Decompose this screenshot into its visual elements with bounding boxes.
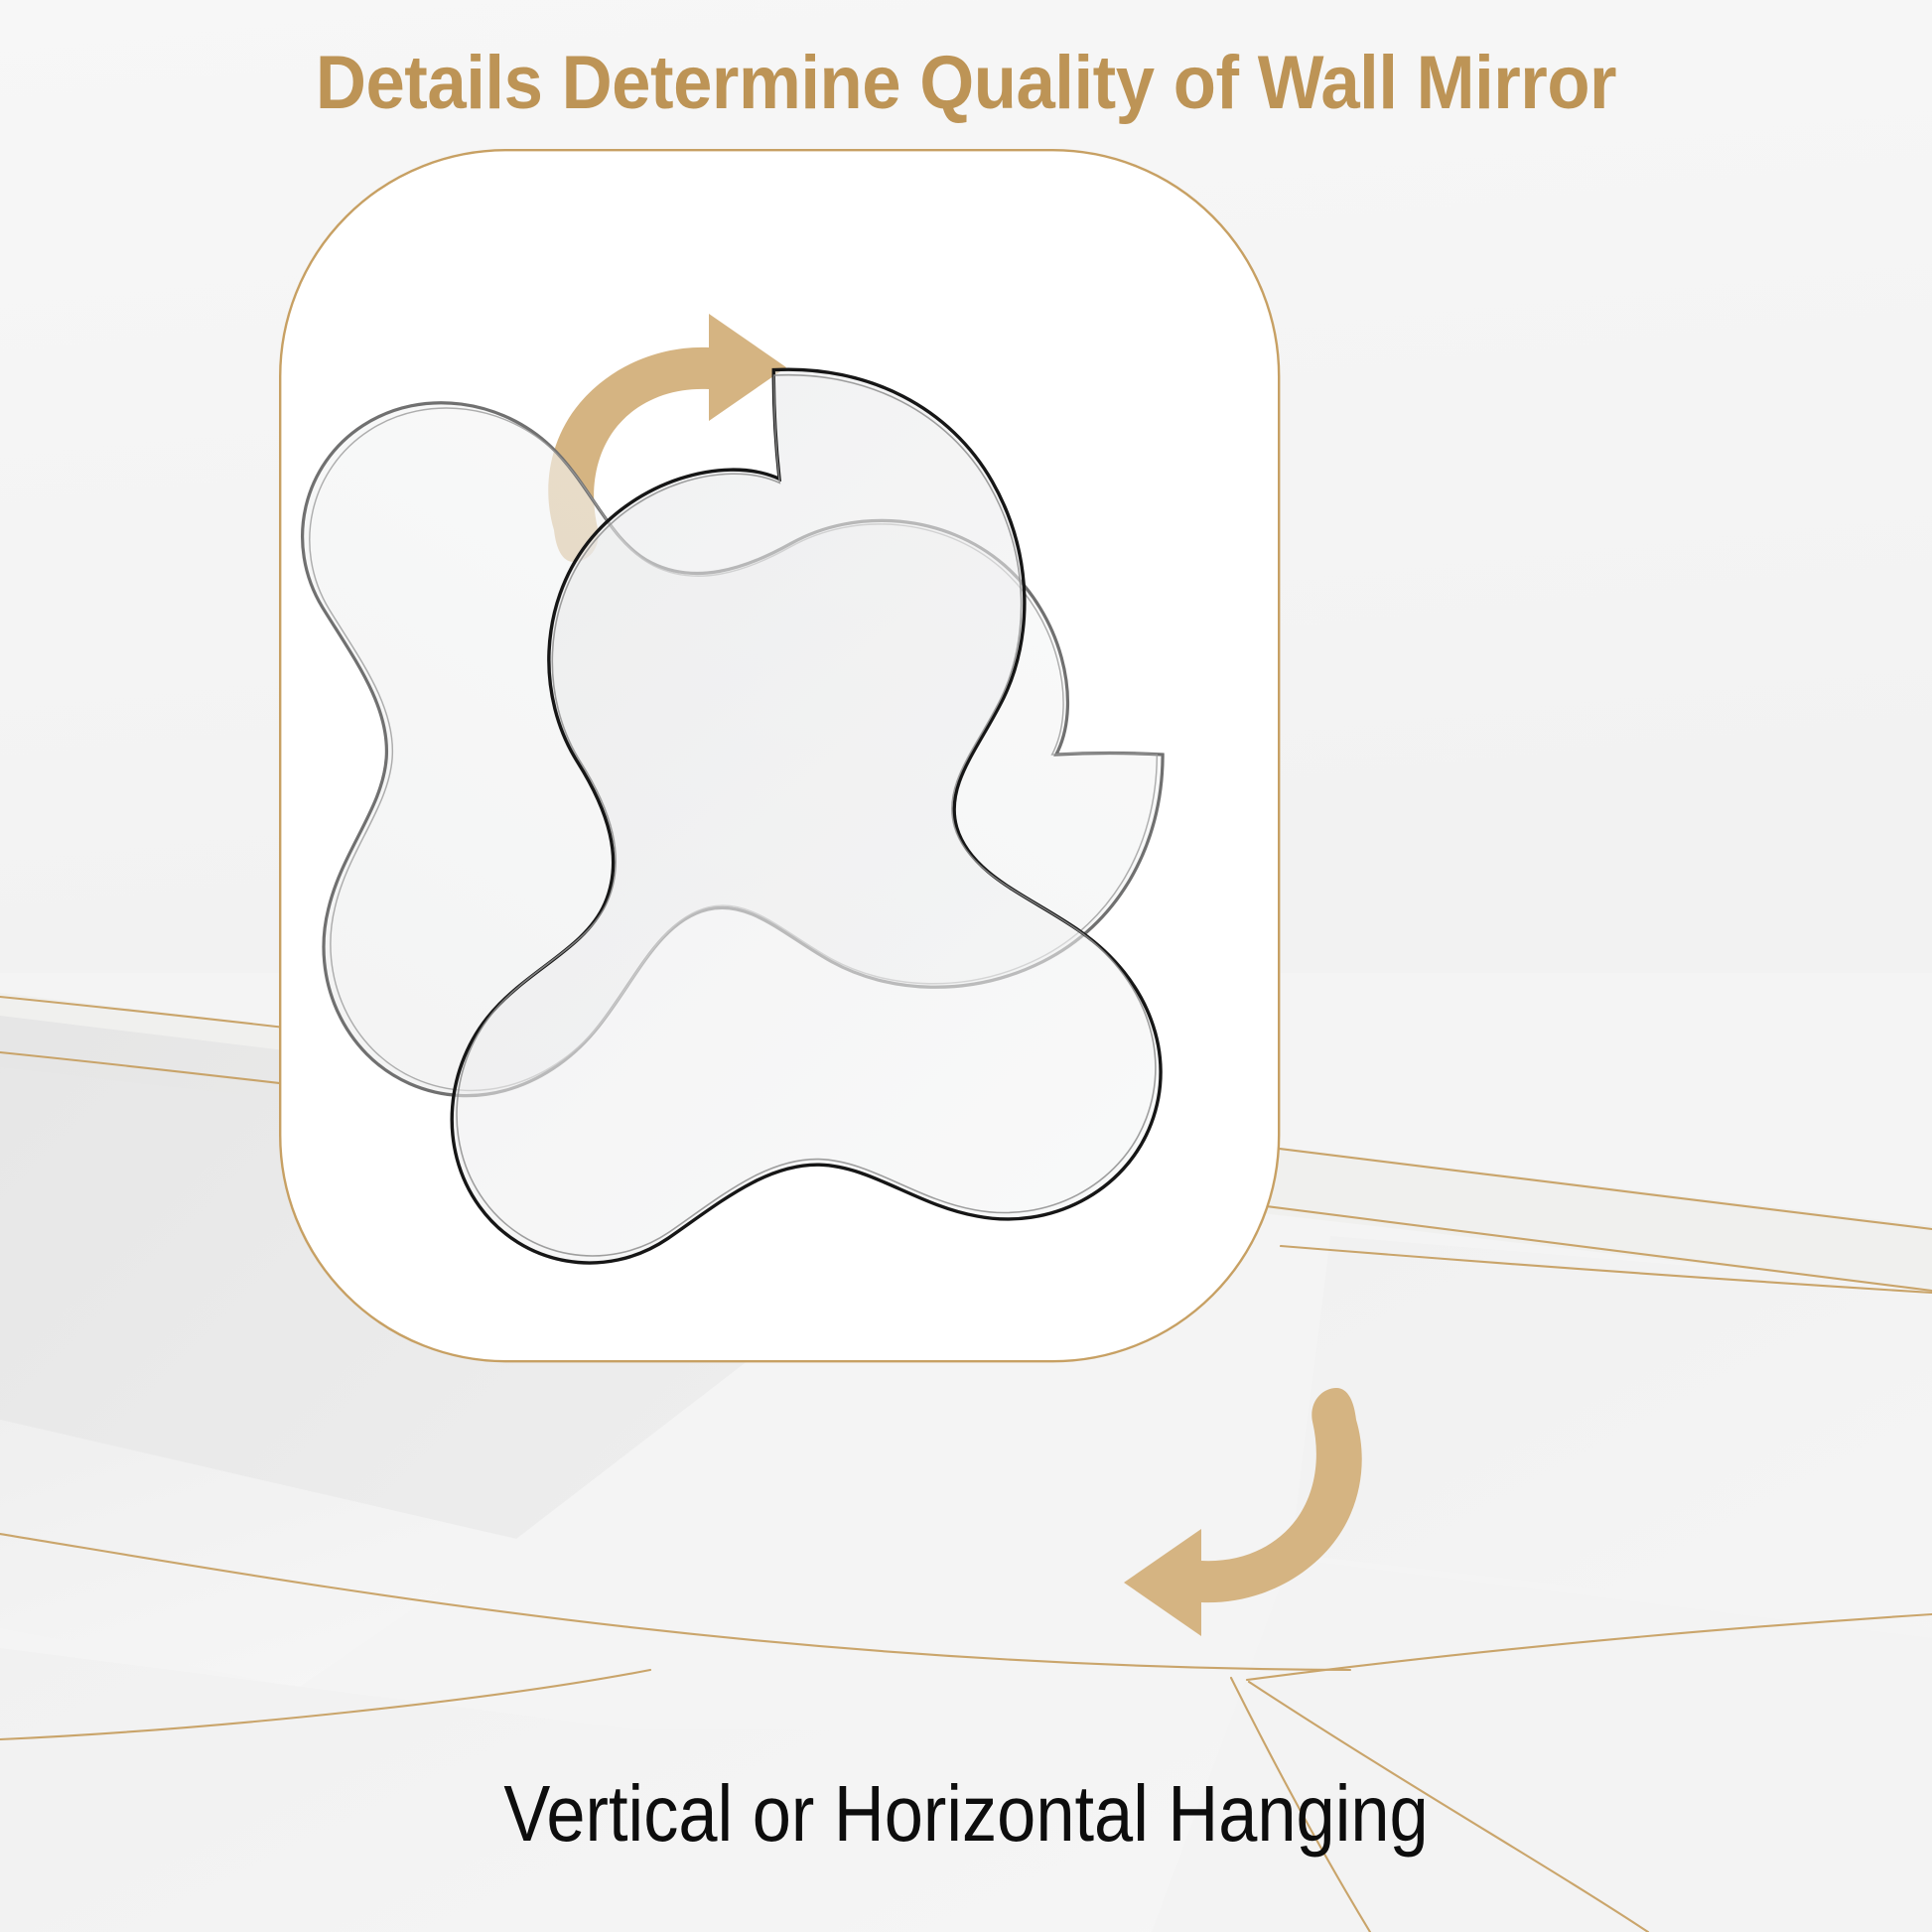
rotate-arrow-bottom-right bbox=[1124, 1388, 1362, 1636]
rotate-arrow-bottom-right-glyph bbox=[1124, 1388, 1362, 1636]
page-caption: Vertical or Horizontal Hanging bbox=[116, 1762, 1816, 1865]
showcase-layer bbox=[0, 0, 1932, 1932]
page-title: Details Determine Quality of Wall Mirror bbox=[68, 34, 1864, 133]
product-infographic-canvas: Details Determine Quality of Wall Mirror bbox=[0, 0, 1932, 1932]
